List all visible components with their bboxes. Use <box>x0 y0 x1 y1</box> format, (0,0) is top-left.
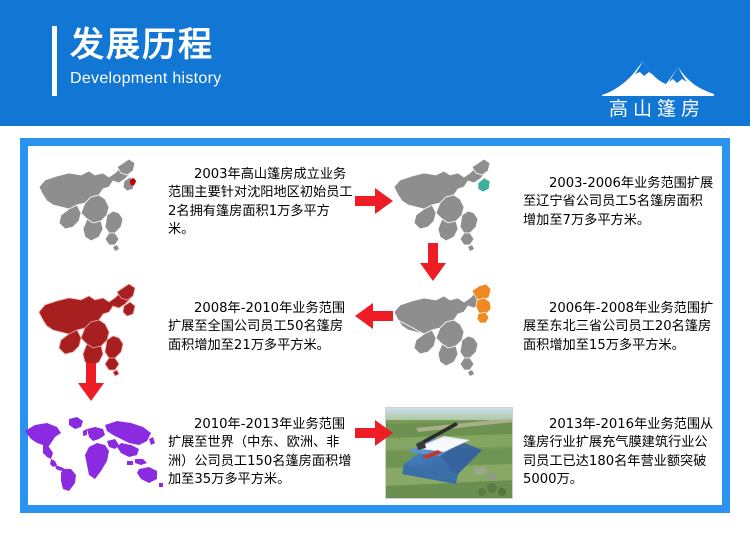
flow-arrow-down-2 <box>420 243 446 285</box>
timeline-cell-text: 2013年-2016年业务范围从篷房行业扩展充气膜建筑行业公司员工已达180名年… <box>523 416 730 490</box>
title-accent-bar <box>52 26 57 96</box>
flow-arrow-left-3 <box>355 303 393 333</box>
flow-arrow-right-5 <box>355 420 393 450</box>
timeline-cell-2013-2016: 2013年-2016年业务范围从篷房行业扩展充气膜建筑行业公司员工已达180名年… <box>375 390 730 515</box>
world-map-icon <box>20 397 168 509</box>
china-map-northeast-icon <box>375 272 523 384</box>
page-subtitle: Development history <box>70 68 222 90</box>
timeline-cell-text: 2006年-2008年业务范围扩展至东北三省公司员工20名篷房面积增加至15万多… <box>523 300 730 356</box>
china-map-shenyang-icon <box>20 147 168 259</box>
timeline-cell-text: 2008年-2010年业务范围扩展至全国公司员工50名篷房面积增加至21万多平方… <box>168 300 375 356</box>
timeline-cell-text: 2003年高山篷房成立业务范围主要针对沈阳地区初始员工2名拥有篷房面积1万多平方… <box>168 166 375 240</box>
header-title-group: 发展历程 Development history <box>52 24 222 90</box>
factory-photo-image <box>385 407 513 499</box>
timeline-cell-2003: 2003年高山篷房成立业务范围主要针对沈阳地区初始员工2名拥有篷房面积1万多平方… <box>20 140 375 265</box>
china-map-liaoning-icon <box>375 147 523 259</box>
brand-logo: 高山篷房 <box>592 58 722 120</box>
page-title: 发展历程 <box>70 24 222 66</box>
aerial-factory-photo <box>375 397 523 509</box>
timeline-cell-2008-2010: 2008年-2010年业务范围扩展至全国公司员工50名篷房面积增加至21万多平方… <box>20 265 375 390</box>
timeline-cell-text: 2003-2006年业务范围扩展至辽宁省公司员工5名篷房面积增加至7万多平方米。 <box>523 175 730 231</box>
flow-arrow-down-4 <box>78 363 104 405</box>
flow-arrow-right-1 <box>355 188 393 218</box>
timeline-cell-2010-2013: 2010年-2013年业务范围扩展至世界（中东、欧洲、非洲）公司员工150名篷房… <box>20 390 375 515</box>
mountain-icon <box>600 58 716 96</box>
page-header: 发展历程 Development history 高山篷房 <box>0 0 750 126</box>
timeline-cell-text: 2010年-2013年业务范围扩展至世界（中东、欧洲、非洲）公司员工150名篷房… <box>168 416 375 490</box>
brand-name: 高山篷房 <box>592 94 722 121</box>
